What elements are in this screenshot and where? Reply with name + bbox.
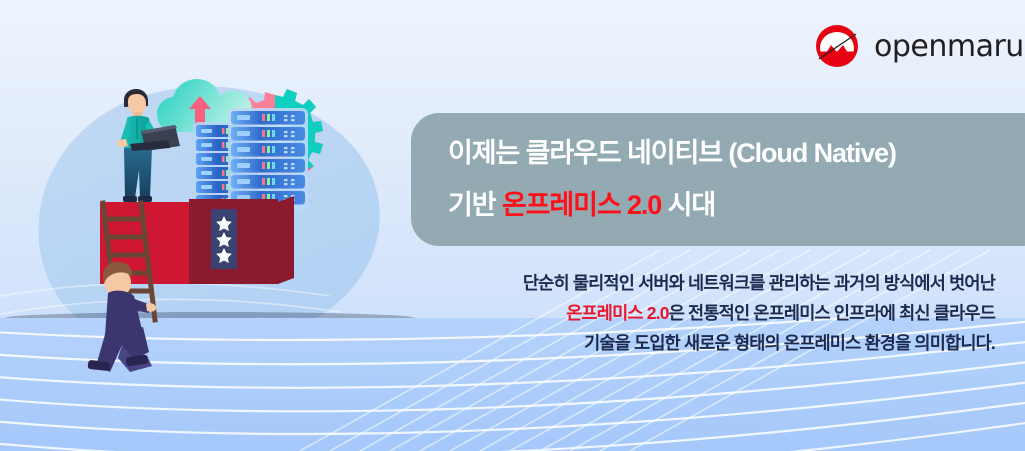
body-line-1: 단순히 물리적인 서버와 네트워크를 관리하는 과거의 방식에서 벗어난 bbox=[415, 268, 995, 298]
headline-line-2-prefix: 기반 bbox=[448, 190, 502, 220]
body-line-3: 기술을 도입한 새로운 형태의 온프레미스 환경을 의미합니다. bbox=[415, 328, 995, 358]
headline-line-2: 기반 온프레미스 2.0 시대 bbox=[448, 179, 1025, 231]
headline-panel: 이제는 클라우드 네이티브 (Cloud Native) 기반 온프레미스 2.… bbox=[411, 113, 1025, 246]
headline-line-2-suffix: 시대 bbox=[661, 190, 715, 220]
openmaru-cloud-native-banner: openmaru 이제는 클라우드 네이티브 (Cloud Native) 기반… bbox=[0, 0, 1025, 451]
star-banner bbox=[211, 209, 237, 269]
body-line-2-rest: 은 전통적인 온프레미스 인프라에 최신 클라우드 bbox=[669, 303, 995, 323]
openmaru-logo[interactable]: openmaru bbox=[812, 21, 1024, 71]
server-rack-large bbox=[228, 108, 308, 212]
openmaru-wordmark: openmaru bbox=[874, 29, 1024, 64]
body-line-2: 온프레미스 2.0은 전통적인 온프레미스 인프라에 최신 클라우드 bbox=[415, 298, 995, 328]
headline-highlight: 온프레미스 2.0 bbox=[502, 190, 661, 220]
openmaru-circle-mark-icon bbox=[812, 21, 862, 71]
headline-line-1: 이제는 클라우드 네이티브 (Cloud Native) bbox=[448, 127, 1025, 179]
body-copy: 단순히 물리적인 서버와 네트워크를 관리하는 과거의 방식에서 벗어난 온프레… bbox=[415, 268, 995, 358]
body-highlight: 온프레미스 2.0 bbox=[566, 303, 669, 323]
